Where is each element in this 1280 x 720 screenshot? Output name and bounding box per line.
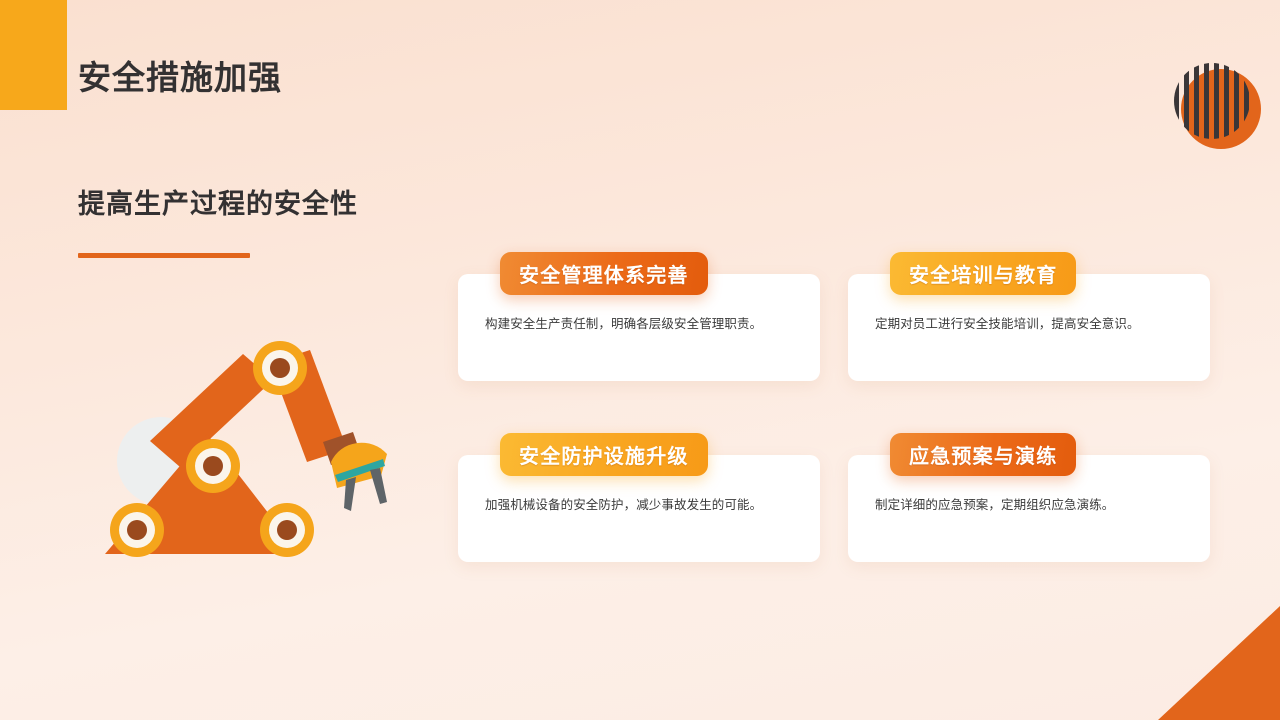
card-body-text: 定期对员工进行安全技能培训，提高安全意识。 [875, 314, 1188, 334]
striped-circle-icon [1169, 59, 1261, 151]
slide-canvas: 安全措施加强 提高生产过程的安全性 [0, 0, 1280, 720]
card-emergency-plan-drill[interactable]: 应急预案与演练 制定详细的应急预案，定期组织应急演练。 [848, 455, 1210, 562]
section-title-underline [78, 253, 250, 258]
card-grid: 安全管理体系完善 构建安全生产责任制，明确各层级安全管理职责。 安全培训与教育 … [458, 274, 1210, 561]
card-body-text: 构建安全生产责任制，明确各层级安全管理职责。 [485, 314, 798, 334]
page-title: 安全措施加强 [78, 58, 282, 98]
section-title: 提高生产过程的安全性 [78, 188, 358, 220]
card-safety-training-education[interactable]: 安全培训与教育 定期对员工进行安全技能培训，提高安全意识。 [848, 274, 1210, 381]
card-safety-management-system[interactable]: 安全管理体系完善 构建安全生产责任制，明确各层级安全管理职责。 [458, 274, 820, 381]
card-badge: 安全防护设施升级 [500, 433, 708, 476]
card-protective-facility-upgrade[interactable]: 安全防护设施升级 加强机械设备的安全防护，减少事故发生的可能。 [458, 455, 820, 562]
card-badge: 安全培训与教育 [890, 252, 1076, 295]
corner-triangle-decoration [1158, 606, 1280, 720]
card-badge: 安全管理体系完善 [500, 252, 708, 295]
corner-block-decoration [0, 0, 67, 110]
card-badge: 应急预案与演练 [890, 433, 1076, 476]
card-body-text: 加强机械设备的安全防护，减少事故发生的可能。 [485, 495, 798, 515]
card-body-text: 制定详细的应急预案，定期组织应急演练。 [875, 495, 1188, 515]
robotic-arm-illustration [95, 318, 420, 580]
